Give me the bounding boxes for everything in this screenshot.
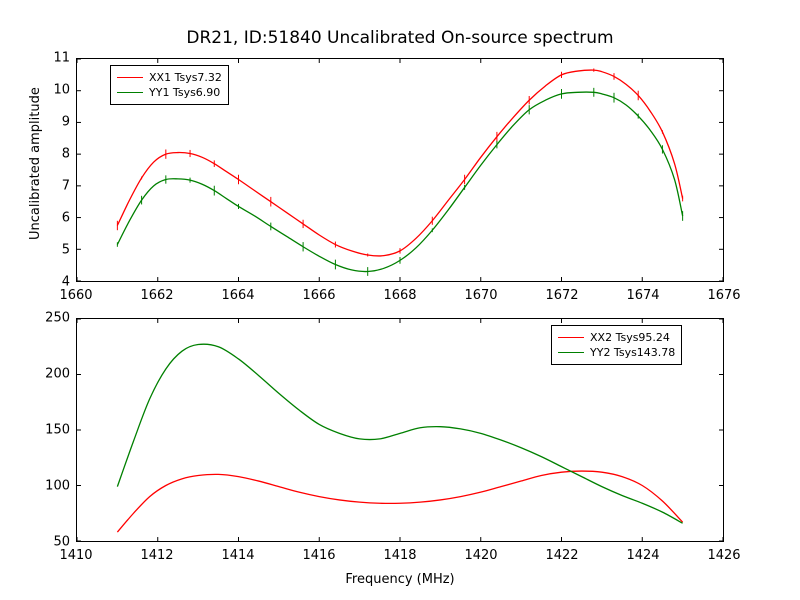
series-line [117,92,682,271]
figure-canvas: DR21, ID:51840 Uncalibrated On-source sp… [0,0,800,600]
legend-label: XX1 Tsys7.32 [149,70,222,85]
x-tick-label: 1660 [59,288,92,303]
y-tick-label: 250 [34,311,70,326]
bottom-legend: XX2 Tsys95.24YY2 Tsys143.78 [551,325,682,365]
x-tick-label: 1414 [221,548,254,563]
legend-color-swatch [117,92,143,93]
x-tick-label: 1666 [302,288,335,303]
legend-entry: YY2 Tsys143.78 [558,345,675,360]
x-tick-label: 1674 [626,288,659,303]
series-line [117,471,682,532]
y-tick-label: 200 [34,367,70,382]
x-tick-label: 1418 [383,548,416,563]
legend-label: YY2 Tsys143.78 [590,345,675,360]
x-tick-label: 1668 [383,288,416,303]
y-tick-label: 150 [34,423,70,438]
top-y-axis-label: Uncalibrated amplitude [28,87,43,240]
x-tick-label: 1412 [140,548,173,563]
legend-color-swatch [117,77,143,78]
x-tick-label: 1662 [140,288,173,303]
x-tick-label: 1672 [545,288,578,303]
y-tick-label: 11 [34,51,70,66]
legend-label: YY1 Tsys6.90 [149,85,220,100]
figure-title: DR21, ID:51840 Uncalibrated On-source sp… [0,28,800,48]
legend-entry: XX2 Tsys95.24 [558,330,675,345]
x-tick-label: 1664 [221,288,254,303]
x-tick-label: 1426 [707,548,740,563]
y-tick-label: 5 [34,243,70,258]
legend-entry: XX1 Tsys7.32 [117,70,222,85]
series-line [117,344,682,523]
legend-color-swatch [558,352,584,353]
x-tick-label: 1424 [626,548,659,563]
x-tick-label: 1670 [464,288,497,303]
y-tick-label: 100 [34,479,70,494]
legend-color-swatch [558,337,584,338]
x-tick-label: 1410 [59,548,92,563]
x-axis-label: Frequency (MHz) [76,572,724,587]
top-legend: XX1 Tsys7.32YY1 Tsys6.90 [110,65,229,105]
x-tick-label: 1416 [302,548,335,563]
legend-label: XX2 Tsys95.24 [590,330,670,345]
legend-entry: YY1 Tsys6.90 [117,85,222,100]
x-tick-label: 1420 [464,548,497,563]
x-tick-label: 1422 [545,548,578,563]
x-tick-label: 1676 [707,288,740,303]
